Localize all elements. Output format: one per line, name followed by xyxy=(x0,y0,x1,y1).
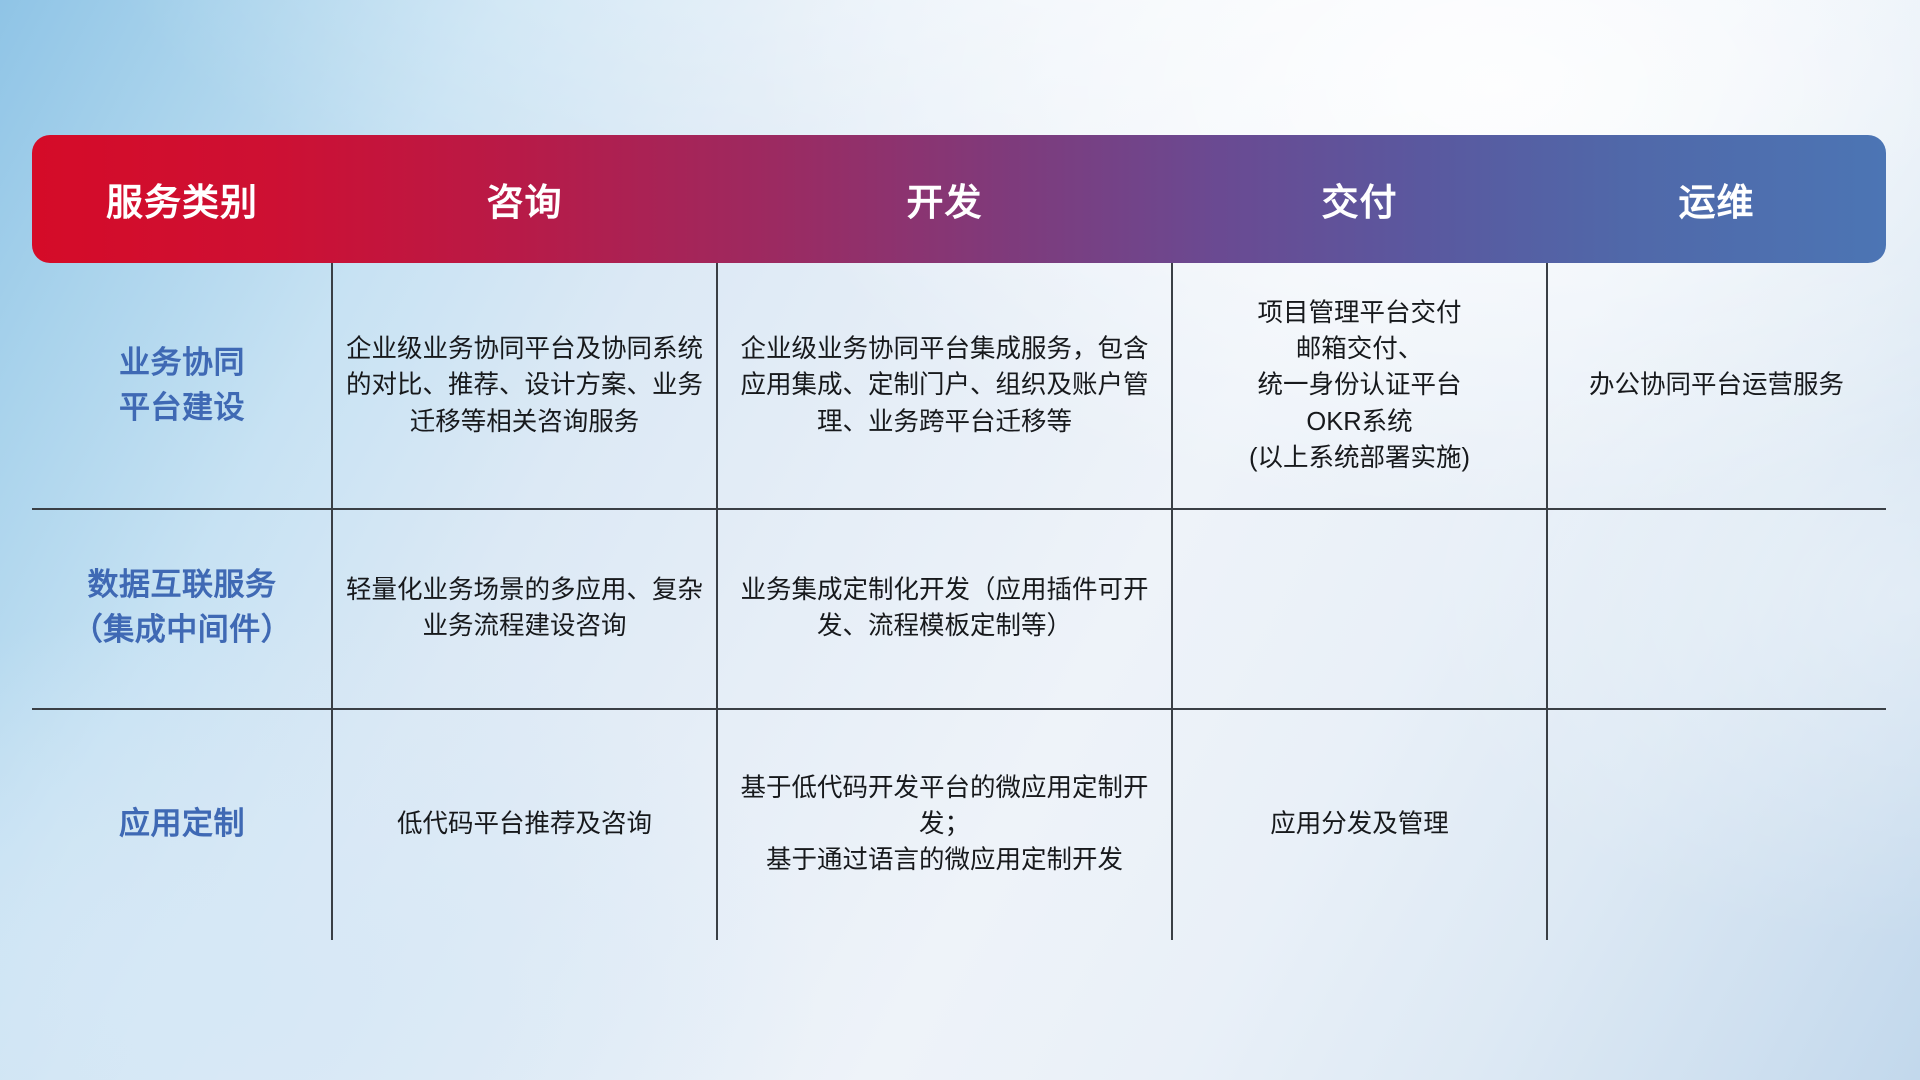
column-divider-3 xyxy=(1171,263,1173,940)
row-divider-1 xyxy=(32,508,1886,510)
column-header-development: 开发 xyxy=(717,135,1172,263)
cell-development: 企业级业务协同平台集成服务，包含应用集成、定制门户、组织及账户管理、业务跨平台迁… xyxy=(717,263,1172,508)
cell-development: 业务集成定制化开发（应用插件可开发、流程模板定制等） xyxy=(717,508,1172,708)
table-header-row: 服务类别 咨询 开发 交付 运维 xyxy=(32,135,1886,263)
service-matrix-table: 服务类别 咨询 开发 交付 运维 业务协同平台建设 企业级业务协同平台及协同系统… xyxy=(32,135,1886,940)
row-divider-2 xyxy=(32,708,1886,710)
cell-consulting: 企业级业务协同平台及协同系统的对比、推荐、设计方案、业务迁移等相关咨询服务 xyxy=(332,263,717,508)
cell-consulting: 低代码平台推荐及咨询 xyxy=(332,708,717,940)
cell-category: 业务协同平台建设 xyxy=(32,263,332,508)
table-row: 应用定制 低代码平台推荐及咨询 基于低代码开发平台的微应用定制开发；基于通过语言… xyxy=(32,708,1886,940)
cell-consulting: 轻量化业务场景的多应用、复杂业务流程建设咨询 xyxy=(332,508,717,708)
column-divider-4 xyxy=(1546,263,1548,940)
table-row: 业务协同平台建设 企业级业务协同平台及协同系统的对比、推荐、设计方案、业务迁移等… xyxy=(32,263,1886,508)
table-row: 数据互联服务（集成中间件） 轻量化业务场景的多应用、复杂业务流程建设咨询 业务集… xyxy=(32,508,1886,708)
cell-delivery: 应用分发及管理 xyxy=(1172,708,1547,940)
cell-category: 应用定制 xyxy=(32,708,332,940)
cell-delivery: 项目管理平台交付邮箱交付、统一身份认证平台OKR系统(以上系统部署实施) xyxy=(1172,263,1547,508)
column-header-consulting: 咨询 xyxy=(332,135,717,263)
cell-operations: 办公协同平台运营服务 xyxy=(1547,263,1886,508)
column-header-delivery: 交付 xyxy=(1172,135,1547,263)
cell-delivery xyxy=(1172,508,1547,708)
cell-development: 基于低代码开发平台的微应用定制开发；基于通过语言的微应用定制开发 xyxy=(717,708,1172,940)
column-header-operations: 运维 xyxy=(1547,135,1886,263)
column-divider-2 xyxy=(716,263,718,940)
cell-operations xyxy=(1547,708,1886,940)
cell-category: 数据互联服务（集成中间件） xyxy=(32,508,332,708)
column-header-service-category: 服务类别 xyxy=(32,135,332,263)
column-divider-1 xyxy=(331,263,333,940)
table-body: 业务协同平台建设 企业级业务协同平台及协同系统的对比、推荐、设计方案、业务迁移等… xyxy=(32,263,1886,940)
cell-operations xyxy=(1547,508,1886,708)
slide-canvas: 服务类别 咨询 开发 交付 运维 业务协同平台建设 企业级业务协同平台及协同系统… xyxy=(0,0,1920,1080)
